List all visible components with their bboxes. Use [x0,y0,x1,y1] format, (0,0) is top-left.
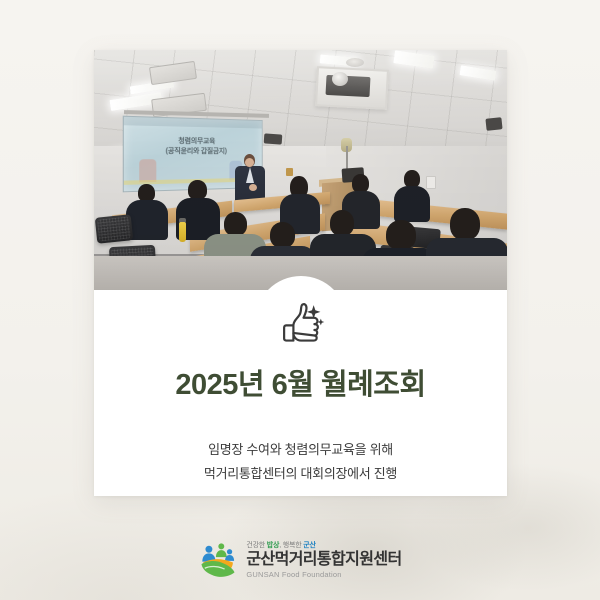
page-root: 청렴의무교육 (공직윤리와 갑질금지) [0,0,600,600]
thumbs-up-icon [274,295,328,349]
slide-title-line-2: (공직윤리와 갑질금지) [124,147,262,158]
presenter-hand [249,184,257,191]
organization-name: 군산먹거리통합지원센터 [246,551,401,569]
thumbs-up-badge [255,276,347,368]
water-bottle [179,222,186,242]
slide-figure [139,159,156,182]
seminar-photo: 청렴의무교육 (공직윤리와 갑질금지) [94,50,507,290]
attendee-head [224,212,247,236]
content-card: 청렴의무교육 (공직윤리와 갑질금지) [94,50,507,496]
tagline-blue: 군산 [303,542,315,549]
attendee-head [450,208,480,240]
subtitle-line-2: 먹거리통합센터의 대회의장에서 진행 [94,462,507,486]
wall-switch [286,168,293,176]
sparkle-icon [306,305,323,325]
slide-header-bar [124,117,262,129]
tagline-green: 밥상 [267,542,279,549]
subtitle-line-1: 임명장 수여와 청렴의무교육을 위해 [94,438,507,462]
gunsan-food-foundation-logo-icon [198,541,238,579]
ceiling-speaker-icon [346,58,364,67]
page-title: 2025년 6월 월례조회 [94,368,507,403]
attendee-head [188,180,207,200]
logo-text-group: 건강한 밥상, 행복한 군산 군산먹거리통합지원센터 GUNSAN Food F… [246,541,401,580]
logo-tagline: 건강한 밥상, 행복한 군산 [246,541,401,550]
projector-lens [332,72,348,86]
slide-title: 청렴의무교육 (공직윤리와 갑질금지) [124,136,262,157]
tagline-mid: , 행복한 [279,542,303,549]
attendee-head [270,222,295,248]
wall-speaker-icon [264,133,283,144]
wall-speaker-icon [485,117,502,131]
chair [95,214,134,244]
subtitle: 임명장 수여와 청렴의무교육을 위해 먹거리통합센터의 대회의장에서 진행 [94,438,507,486]
attendee-head [330,210,354,236]
presenter-face [245,158,254,167]
slide-title-line-1: 청렴의무교육 [124,136,262,147]
attendee-head [386,220,416,250]
wall-outlet [426,176,436,189]
tagline-pre: 건강한 [246,542,266,549]
footer-logo: 건강한 밥상, 행복한 군산 군산먹거리통합지원센터 GUNSAN Food F… [0,536,600,584]
organization-name-en: GUNSAN Food Foundation [246,570,401,580]
attendee-body [394,186,430,222]
